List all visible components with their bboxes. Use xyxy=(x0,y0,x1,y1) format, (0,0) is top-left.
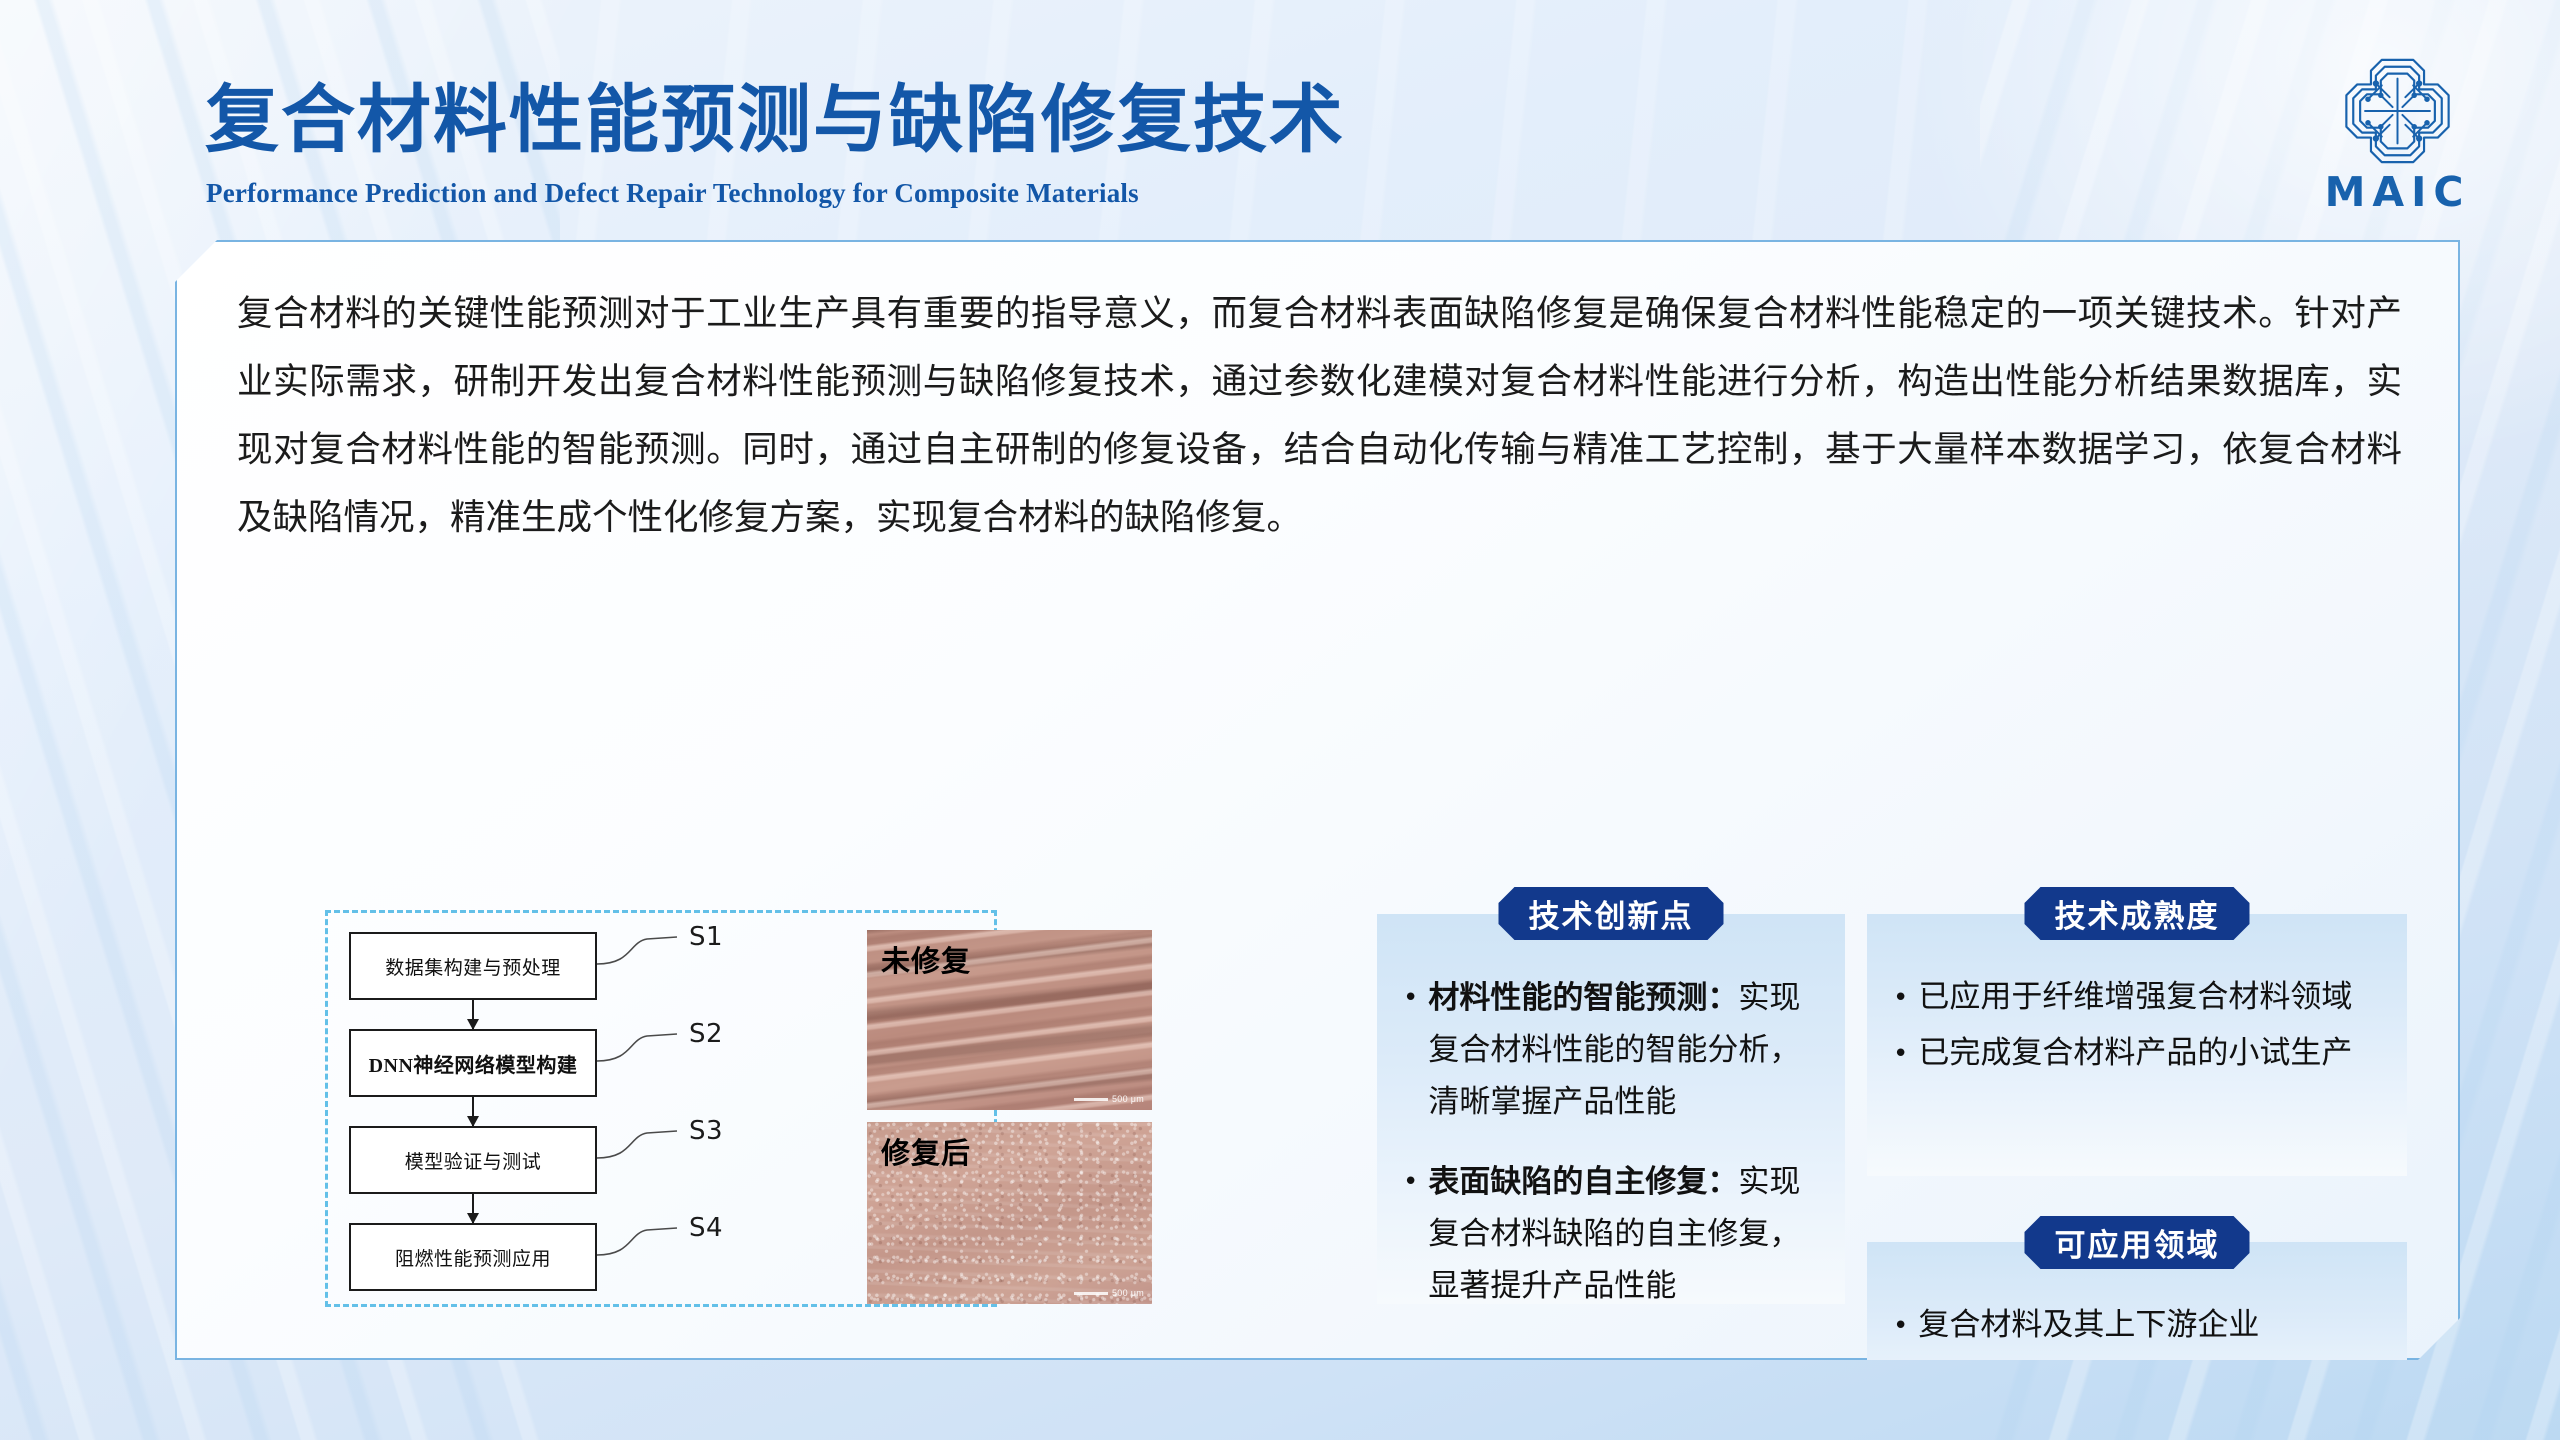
scale-bar-line xyxy=(1074,1292,1108,1295)
list-item: • 表面缺陷的自主修复：实现复合材料缺陷的自主修复，显著提升产品性能 xyxy=(1403,1156,1819,1312)
maturity-card-body: • 已应用于纤维增强复合材料领域 • 已完成复合材料产品的小试生产 xyxy=(1867,972,2407,1084)
scale-bar-bottom: 500 μm xyxy=(1074,1288,1144,1298)
logo-wordmark: MAIC xyxy=(2310,172,2485,213)
application-card-body: • 复合材料及其上下游企业 • 能源、电子、海洋等行业 xyxy=(1867,1300,2407,1412)
flow-arrow-3 xyxy=(472,1194,474,1223)
list-item: • 材料性能的智能预测：实现复合材料性能的智能分析，清晰掌握产品性能 xyxy=(1403,972,1819,1128)
list-item: • 已完成复合材料产品的小试生产 xyxy=(1893,1028,2381,1080)
flow-arrow-1 xyxy=(472,1000,474,1029)
innovation-bullet-1-lead: 材料性能的智能预测： xyxy=(1428,980,1738,1016)
brain-circuit-flower-icon xyxy=(2310,52,2485,170)
list-item: • 能源、电子、海洋等行业 xyxy=(1893,1356,2381,1408)
list-item: • 已应用于纤维增强复合材料领域 xyxy=(1893,972,2381,1024)
page-title: 复合材料性能预测与缺陷修复技术 xyxy=(205,60,1345,167)
bullet-dot-icon: • xyxy=(1403,1156,1418,1208)
bullet-dot-icon: • xyxy=(1403,972,1418,1024)
maic-logo: MAIC xyxy=(2310,52,2485,217)
scale-bar-label: 500 μm xyxy=(1112,1094,1144,1104)
bullet-dot-icon: • xyxy=(1893,1356,1908,1408)
repaired-surface-image: 修复后 500 μm xyxy=(867,1122,1152,1304)
list-item: • 复合材料及其上下游企业 xyxy=(1893,1300,2381,1352)
scale-bar-top: 500 μm xyxy=(1074,1094,1144,1104)
page-subtitle: Performance Prediction and Defect Repair… xyxy=(206,178,1139,209)
flow-arrow-2 xyxy=(472,1097,474,1126)
bullet-dot-icon: • xyxy=(1893,972,1908,1024)
innovation-card-title: 技术创新点 xyxy=(1499,887,1724,940)
unrepaired-caption: 未修复 xyxy=(881,938,971,980)
application-bullet-1: 复合材料及其上下游企业 xyxy=(1918,1300,2381,1350)
overview-paragraph: 复合材料的关键性能预测对于工业生产具有重要的指导意义，而复合材料表面缺陷修复是确… xyxy=(237,280,2402,552)
maturity-bullet-1: 已应用于纤维增强复合材料领域 xyxy=(1918,972,2381,1022)
flow-tag-s1: S1 xyxy=(689,922,723,952)
flow-step-1[interactable]: 数据集构建与预处理 xyxy=(349,932,597,1000)
bullet-dot-icon: • xyxy=(1893,1028,1908,1080)
maturity-bullet-2: 已完成复合材料产品的小试生产 xyxy=(1918,1028,2381,1078)
repaired-caption: 修复后 xyxy=(881,1130,971,1172)
flow-tag-s3: S3 xyxy=(689,1116,723,1146)
flow-step-2[interactable]: DNN神经网络模型构建 xyxy=(349,1029,597,1097)
flow-step-4[interactable]: 阻燃性能预测应用 xyxy=(349,1223,597,1291)
process-flowchart: 数据集构建与预处理 DNN神经网络模型构建 模型验证与测试 阻燃性能预测应用 xyxy=(349,932,597,1287)
slide-header: 复合材料性能预测与缺陷修复技术 Performance Prediction a… xyxy=(0,0,2560,235)
flow-tag-s2: S2 xyxy=(689,1019,723,1049)
scale-bar-line xyxy=(1074,1098,1108,1101)
innovation-bullet-2-lead: 表面缺陷的自主修复： xyxy=(1428,1164,1738,1200)
scale-bar-label: 500 μm xyxy=(1112,1288,1144,1298)
bullet-dot-icon: • xyxy=(1893,1300,1908,1352)
content-panel: 复合材料的关键性能预测对于工业生产具有重要的指导意义，而复合材料表面缺陷修复是确… xyxy=(175,240,2460,1360)
unrepaired-surface-image: 未修复 500 μm xyxy=(867,930,1152,1110)
flow-tag-s4: S4 xyxy=(689,1213,723,1243)
maturity-card-title: 技术成熟度 xyxy=(2025,887,2250,940)
application-bullet-2: 能源、电子、海洋等行业 xyxy=(1918,1356,2381,1406)
slide-canvas: 复合材料性能预测与缺陷修复技术 Performance Prediction a… xyxy=(0,0,2560,1440)
flow-step-3[interactable]: 模型验证与测试 xyxy=(349,1126,597,1194)
innovation-card-body: • 材料性能的智能预测：实现复合材料性能的智能分析，清晰掌握产品性能 • 表面缺… xyxy=(1377,972,1845,1316)
application-card-title: 可应用领域 xyxy=(2025,1216,2250,1269)
